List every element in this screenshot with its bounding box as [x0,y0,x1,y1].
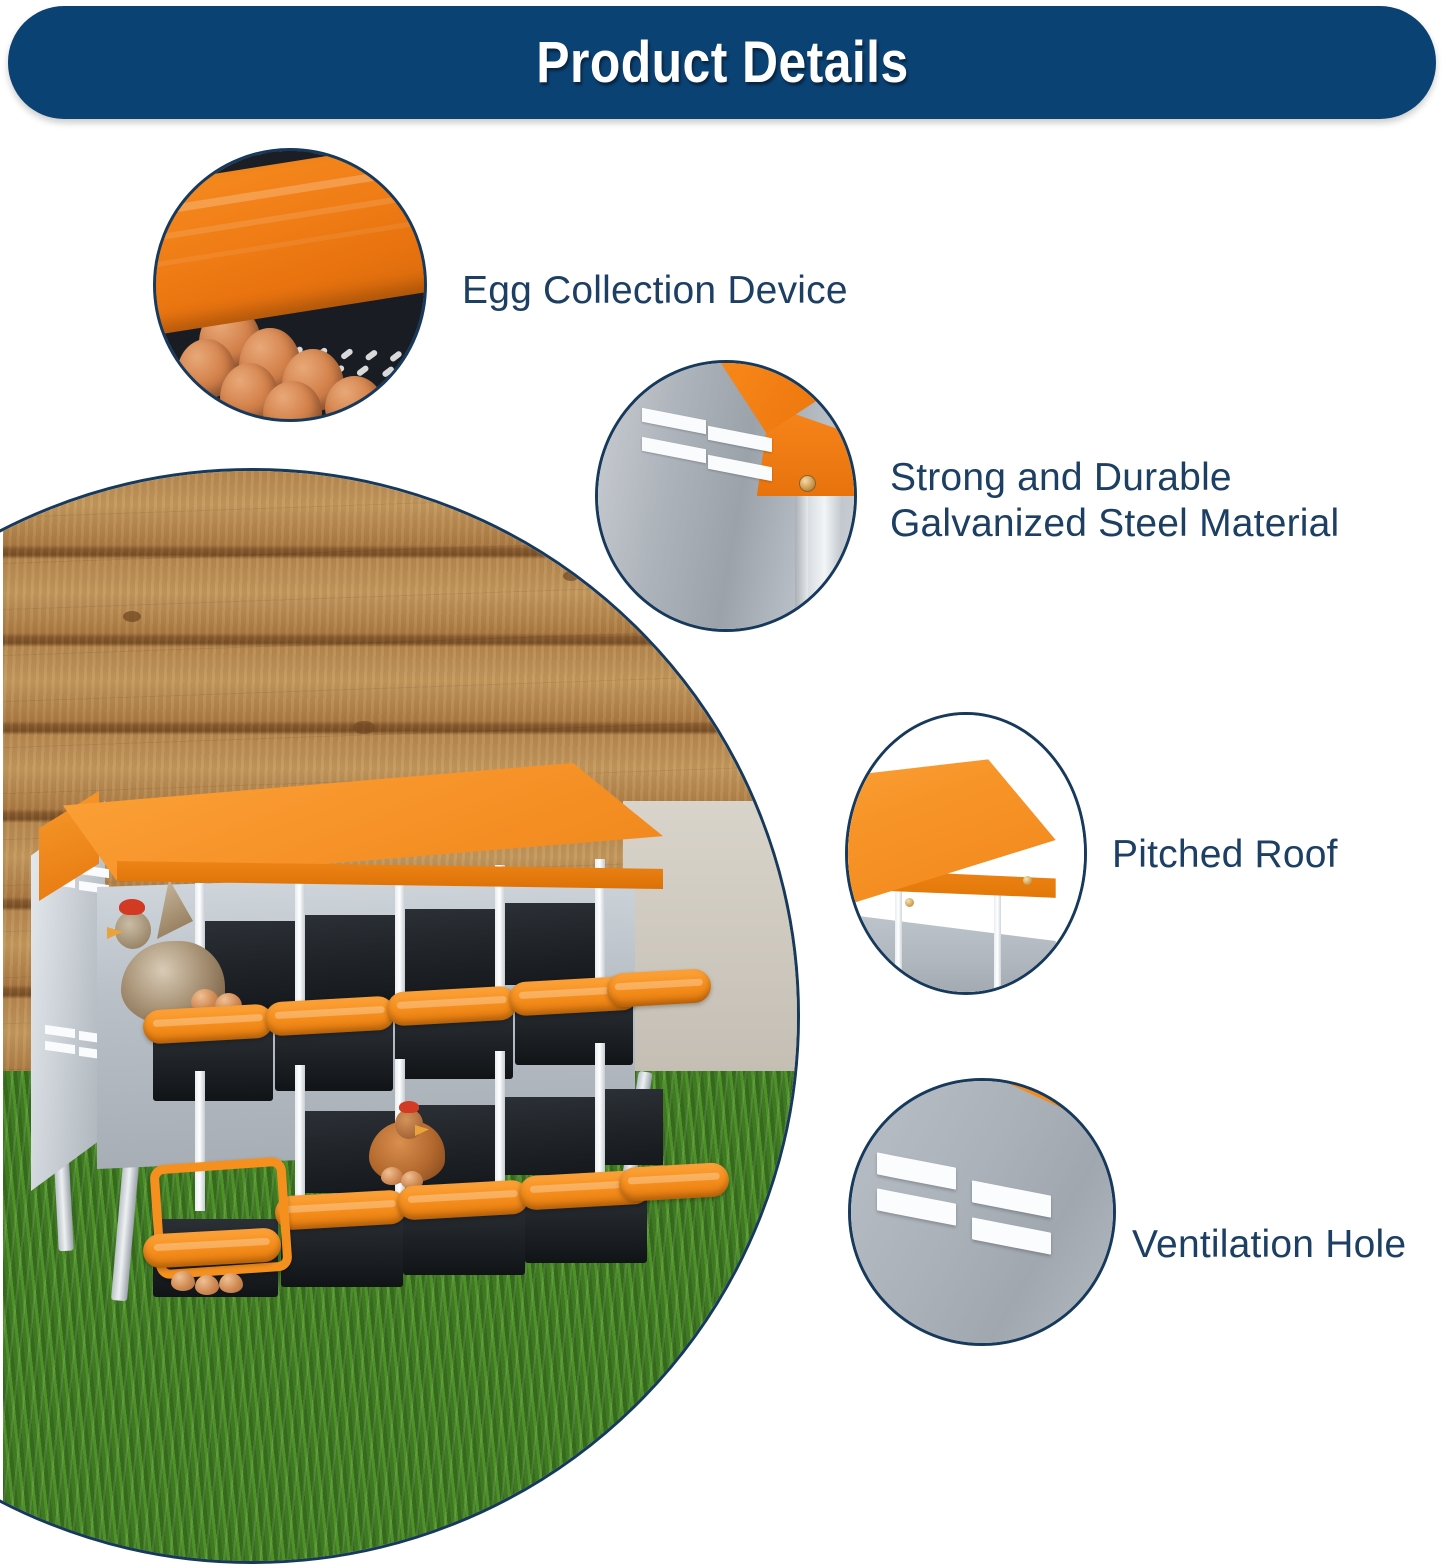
steel-edge-post [795,496,808,632]
pitched-roof-illustration [848,715,1084,992]
perch-rail [386,985,518,1026]
perch-rail [264,995,396,1036]
ventilation-slot [642,437,706,463]
perch-rail [618,1162,730,1202]
callout-label-galvanized-steel: Strong and Durable Galvanized Steel Mate… [890,455,1339,547]
nest-compartment [503,1097,595,1175]
ventilation-slot [972,1181,1051,1218]
callout-image-ventilation-hole [848,1078,1116,1346]
hen-comb [119,899,145,915]
ventilation-slot [642,407,706,433]
egg [381,1167,403,1185]
header-banner: Product Details [8,6,1436,119]
nest-compartment [303,915,395,1001]
wood-knot [353,721,375,734]
egg [219,1273,243,1293]
hen-comb [399,1101,419,1113]
nest-compartment [503,903,595,985]
compartment-divider [595,1043,605,1183]
ventilation-slot [877,1152,956,1189]
ventilation-slot [708,426,772,452]
callout-label-ventilation-hole: Ventilation Hole [1132,1222,1406,1268]
hen-head [115,911,151,949]
coop-body-panel [845,892,1056,995]
nest-compartment [603,1089,663,1165]
perch-rail [606,968,712,1008]
callout-image-pitched-roof [845,712,1087,995]
page-title: Product Details [536,29,908,96]
orange-roof-sliver [1003,1078,1116,1165]
main-product-photo [0,468,800,1564]
callout-label-pitched-roof: Pitched Roof [1112,832,1338,878]
compartment-divider [495,1051,505,1191]
screw-icon [1023,876,1032,885]
body-rib [994,881,1001,992]
steel-corner-post [808,496,841,632]
screw-icon [799,475,816,492]
wood-knot [123,611,141,622]
ventilation-hole-illustration [851,1081,1113,1343]
ventilation-slot [972,1217,1051,1254]
orange-roof-edge [700,360,857,434]
ventilation-slot [877,1189,956,1226]
egg-collection-illustration [156,151,424,419]
hen-head [395,1109,423,1139]
perch-rail [142,1003,274,1044]
wall-panel [623,801,800,1101]
egg [195,1275,219,1295]
body-rib [895,881,902,992]
nest-compartment [403,909,495,993]
callout-image-egg-collection-device [153,148,427,422]
egg [171,1271,195,1291]
screw-icon [905,898,914,907]
compartment-divider [295,1065,305,1205]
callout-label-egg-collection-device: Egg Collection Device [462,268,848,314]
wood-knot [563,571,579,581]
main-product-scene [3,471,800,1564]
